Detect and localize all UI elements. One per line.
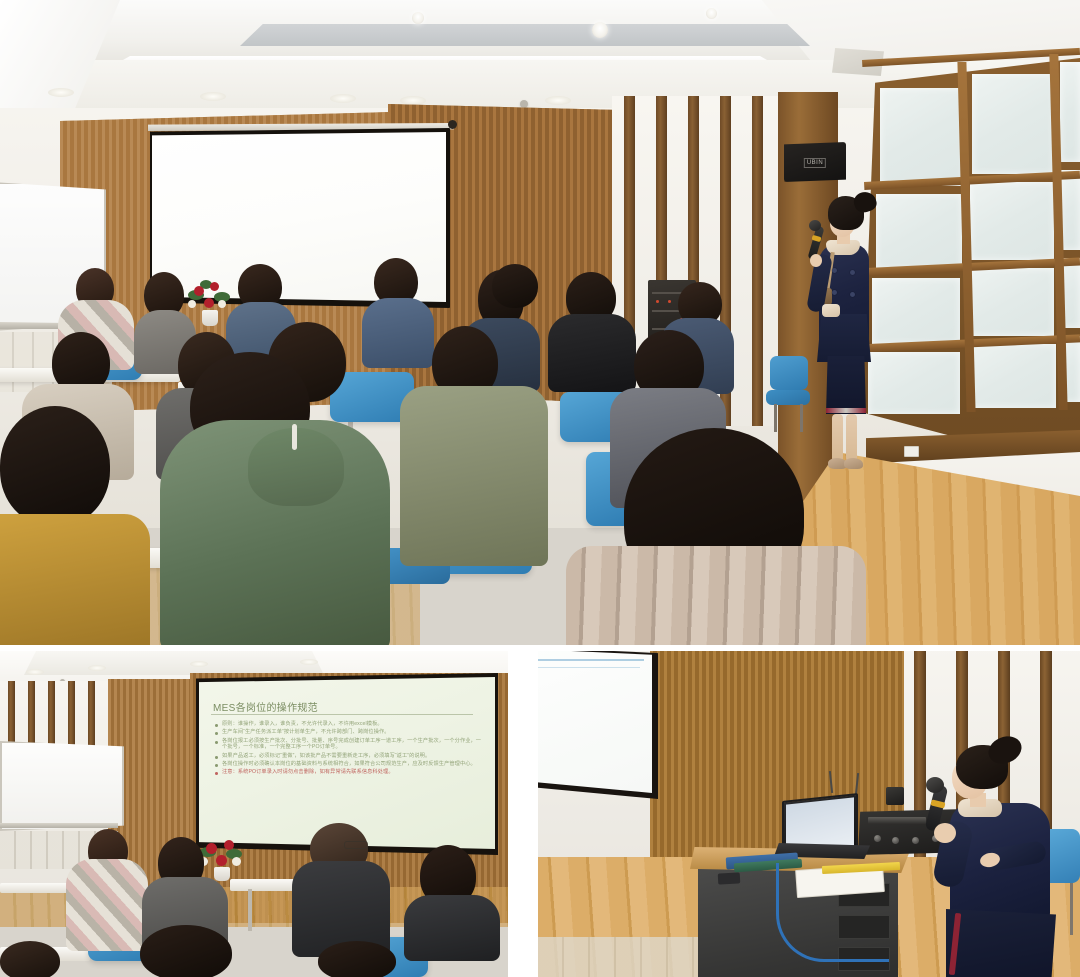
white-bloom-icon bbox=[232, 857, 241, 866]
white-bloom-icon bbox=[188, 300, 196, 308]
status-led bbox=[668, 300, 671, 303]
top-scene: UBIN bbox=[0, 0, 1080, 645]
projection-screen-surface bbox=[538, 651, 652, 793]
ceiling-grey-band bbox=[240, 24, 810, 46]
bullet-dot-icon bbox=[215, 756, 218, 759]
vase bbox=[214, 867, 230, 881]
status-led bbox=[656, 300, 659, 303]
slide-bullet: 原则：谁操作，谁录入，谁负责，不允许代录入，不许用excel模板。 bbox=[215, 721, 483, 727]
bottom-right-scene bbox=[538, 651, 1080, 977]
ceiling-lamp-icon bbox=[545, 96, 571, 105]
mixer-display bbox=[868, 817, 926, 824]
presenter-skirt-hem bbox=[826, 408, 866, 413]
audience-body bbox=[404, 895, 500, 961]
chair-leg bbox=[800, 404, 803, 432]
window-pane bbox=[876, 194, 962, 270]
wireless-receiver bbox=[886, 787, 904, 805]
presenter-lap bbox=[946, 909, 1056, 977]
presenter-leg bbox=[846, 414, 857, 462]
speaker-brand-label: UBIN bbox=[804, 158, 826, 168]
power-outlet[interactable] bbox=[904, 446, 919, 457]
presenter-shoe bbox=[844, 458, 863, 469]
bullet-dot-icon bbox=[215, 724, 218, 727]
collage-gutter-vertical bbox=[508, 645, 538, 977]
collage-gutter-horizontal bbox=[0, 645, 1080, 651]
vase bbox=[202, 310, 218, 326]
hoodie-drawstring bbox=[292, 424, 297, 450]
panel-top-wide-room-view: UBIN bbox=[0, 0, 1080, 645]
flower-arrangement bbox=[198, 835, 246, 877]
flower-arrangement bbox=[186, 276, 232, 320]
audience-head bbox=[0, 941, 60, 977]
white-bloom-icon bbox=[218, 300, 226, 308]
downlight-icon bbox=[412, 12, 424, 24]
slide-bullet: 各岗位操作时必须确认本岗位的基础资料与系统相符合，如果符合公司规范生产，应及时反… bbox=[215, 761, 483, 767]
presenter-leg bbox=[832, 414, 843, 462]
table-leg bbox=[248, 889, 252, 931]
slide-bullet-text: 各岗位操作时必须确认本岗位的基础资料与系统相符合，如果符合公司规范生产，应及时反… bbox=[222, 761, 476, 767]
wall-speaker: UBIN bbox=[784, 142, 846, 182]
whiteboard bbox=[0, 741, 124, 831]
coat-button bbox=[850, 292, 855, 297]
presenter-cuff bbox=[822, 304, 840, 317]
coat-button bbox=[850, 270, 855, 275]
audience-head bbox=[0, 406, 110, 526]
ceiling-lamp-icon bbox=[88, 665, 106, 671]
rose-icon bbox=[204, 298, 214, 308]
ceiling-lamp-icon bbox=[400, 96, 426, 105]
presenter-coat-flare bbox=[817, 314, 871, 362]
audience-head bbox=[318, 941, 396, 977]
slide-title: MES各岗位的操作规范 bbox=[213, 699, 453, 714]
window-pane bbox=[968, 268, 1054, 336]
window-pane bbox=[872, 278, 960, 344]
audience-body bbox=[548, 314, 636, 392]
presenter-hand bbox=[934, 823, 956, 843]
slide-bullet-text: 生产车间“生产任务派工单”按计划单生产，不允许跨部门、跨岗位操作。 bbox=[222, 729, 390, 735]
rose-icon bbox=[210, 282, 219, 291]
slide-bullet-text: 如果产品返工，必须标记“重做”，如该批产品不需要重新走工序，必须填写“返工”的说… bbox=[222, 753, 430, 759]
microphone-head bbox=[926, 777, 944, 793]
window-pane bbox=[970, 182, 1054, 260]
screen-highlight-line bbox=[538, 667, 640, 668]
sprinkler-icon bbox=[520, 100, 528, 108]
bullet-dot-icon bbox=[215, 764, 218, 767]
panel-bottom-left-projection-view: MES各岗位的操作规范 原则：谁操作，谁录入，谁负责，不允许代录入，不许用exc… bbox=[0, 651, 508, 977]
downlight-icon bbox=[706, 8, 717, 19]
panel-bottom-right-podium-view bbox=[538, 651, 1080, 977]
rose-icon bbox=[224, 840, 234, 850]
presenter bbox=[806, 196, 882, 476]
audience-head bbox=[492, 264, 538, 308]
audience-body bbox=[400, 386, 548, 566]
chair[interactable] bbox=[766, 356, 810, 432]
mixer-knob[interactable] bbox=[912, 837, 919, 844]
rose-icon bbox=[194, 286, 204, 296]
slide-bullet: 如果产品返工，必须标记“重做”，如该批产品不需要重新走工序，必须填写“返工”的说… bbox=[215, 753, 483, 759]
window-pane bbox=[972, 74, 1054, 174]
slide-bullet-text: 注意：系统PO订单录入时请勿点击删除，如有异常请先联系信息科处理。 bbox=[222, 769, 394, 775]
window-pane bbox=[1060, 62, 1080, 162]
presenter-seated bbox=[936, 741, 1080, 977]
photo-collage: UBIN bbox=[0, 0, 1080, 977]
screen-highlight-line bbox=[538, 659, 644, 661]
audience-body bbox=[362, 298, 434, 368]
rose-icon bbox=[206, 843, 217, 854]
chair-back bbox=[770, 356, 808, 390]
microphone-head bbox=[809, 220, 821, 231]
audience-body bbox=[66, 859, 148, 951]
ceiling-lamp-icon bbox=[330, 94, 356, 103]
whiteboard-tray bbox=[0, 823, 118, 828]
bullet-dot-icon bbox=[215, 732, 218, 735]
slide-bullet: 各岗位报工必须按生产批次、分批号、批量、序号完成创建订单工序一道工序，一个生产批… bbox=[215, 738, 483, 751]
slide-bullet-highlight: 注意：系统PO订单录入时请勿点击删除，如有异常请先联系信息科处理。 bbox=[215, 769, 483, 775]
wall-slat bbox=[752, 96, 763, 426]
slide-bullet-text: 各岗位报工必须按生产批次、分批号、批量、序号完成创建订单工序一道工序，一个生产批… bbox=[222, 738, 483, 751]
eyeglasses-icon bbox=[344, 841, 368, 849]
network-cable bbox=[776, 863, 889, 962]
slide-title-rule bbox=[211, 714, 473, 715]
mobile-phone[interactable] bbox=[718, 872, 741, 884]
rose-icon bbox=[216, 855, 227, 866]
ceiling-lamp-icon bbox=[200, 92, 226, 101]
chair-seat bbox=[766, 390, 810, 405]
ceiling-lamp-icon bbox=[26, 669, 44, 675]
bottom-left-scene: MES各岗位的操作规范 原则：谁操作，谁录入，谁负责，不允许代录入，不许用exc… bbox=[0, 651, 508, 977]
mixer-knob[interactable] bbox=[892, 837, 899, 844]
ceiling-lamp-icon bbox=[190, 661, 208, 667]
audience-body bbox=[0, 514, 150, 645]
presenter-skirt bbox=[826, 356, 866, 414]
window-pane bbox=[968, 344, 1056, 408]
coat-button bbox=[832, 268, 837, 273]
bullet-dot-icon bbox=[215, 741, 218, 744]
slide-bullet-text: 原则：谁操作，谁录入，谁负责，不允许代录入，不许用excel模板。 bbox=[222, 721, 383, 727]
audience-head bbox=[140, 925, 232, 977]
audience-body bbox=[566, 546, 866, 645]
downlight-icon bbox=[592, 22, 608, 38]
ceiling-lamp-icon bbox=[300, 659, 318, 665]
slide-bullet: 生产车间“生产任务派工单”按计划单生产，不允许跨部门、跨岗位操作。 bbox=[215, 729, 483, 735]
chair-leg bbox=[774, 404, 777, 432]
window-pane bbox=[880, 88, 964, 186]
mixer-knob[interactable] bbox=[874, 835, 881, 842]
bullet-dot-icon bbox=[215, 772, 218, 775]
slide-bullet-list: 原则：谁操作，谁录入，谁负责，不允许代录入，不许用excel模板。 生产车间“生… bbox=[215, 721, 483, 778]
coat-button bbox=[832, 290, 837, 295]
ceiling-lamp-icon bbox=[48, 88, 74, 97]
screen-pull-knob[interactable] bbox=[448, 120, 457, 129]
presenter-hand bbox=[810, 254, 822, 267]
ceiling-recess bbox=[24, 651, 324, 675]
